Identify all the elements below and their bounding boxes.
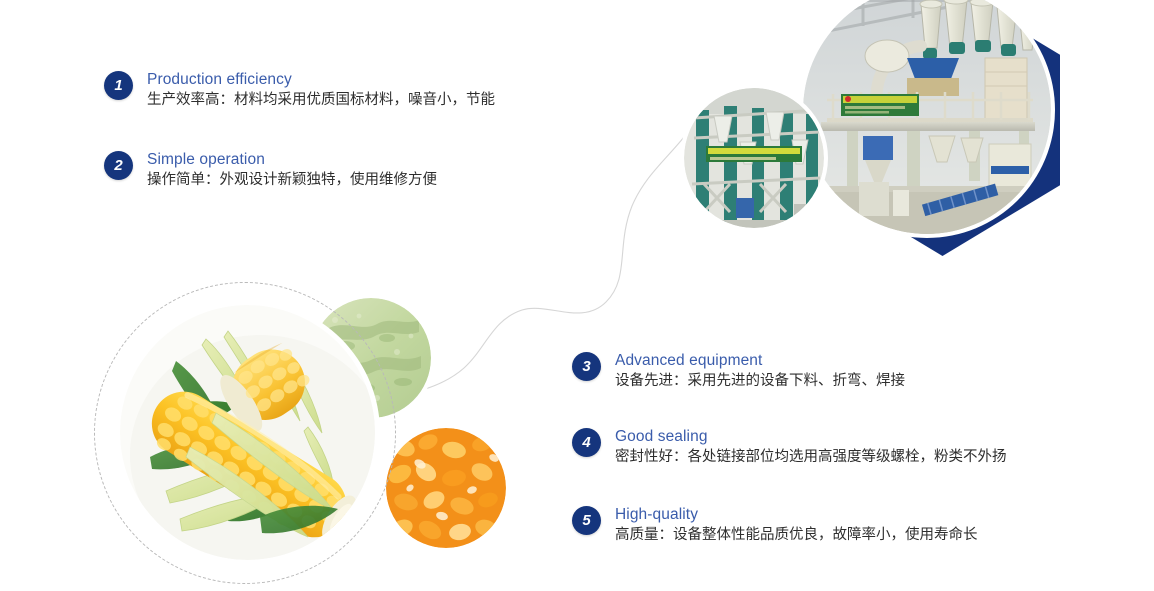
corn-product-visual-group bbox=[86, 280, 516, 591]
feature-text-3: Advanced equipment 设备先进：采用先进的设备下料、折弯、焊接 bbox=[615, 351, 905, 392]
corn-main-photo bbox=[120, 305, 375, 560]
feature-badge-5: 5 bbox=[572, 506, 601, 535]
feature-item-2[interactable]: 2 Simple operation 操作简单：外观设计新颖独特，使用维修方便 bbox=[104, 150, 437, 191]
feature-badge-1: 1 bbox=[104, 71, 133, 100]
feature-infographic: 1 Production efficiency 生产效率高：材料均采用优质国标材… bbox=[0, 0, 1154, 591]
milling-plant-visual-group bbox=[660, 0, 1154, 284]
corn-grits-photo bbox=[386, 428, 506, 548]
feature-title-1: Production efficiency bbox=[147, 70, 495, 89]
feature-desc-2: 操作简单：外观设计新颖独特，使用维修方便 bbox=[147, 169, 437, 191]
feature-desc-5: 高质量：设备整体性能品质优良，故障率小，使用寿命长 bbox=[615, 524, 978, 546]
feature-text-4: Good sealing 密封性好：各处链接部位均选用高强度等级螺栓，粉类不外扬 bbox=[615, 427, 1007, 468]
feature-desc-4: 密封性好：各处链接部位均选用高强度等级螺栓，粉类不外扬 bbox=[615, 446, 1007, 468]
feature-item-4[interactable]: 4 Good sealing 密封性好：各处链接部位均选用高强度等级螺栓，粉类不… bbox=[572, 427, 1007, 468]
feature-badge-3: 3 bbox=[572, 352, 601, 381]
feature-text-1: Production efficiency 生产效率高：材料均采用优质国标材料，… bbox=[147, 70, 495, 111]
feature-title-2: Simple operation bbox=[147, 150, 437, 169]
feature-desc-3: 设备先进：采用先进的设备下料、折弯、焊接 bbox=[615, 370, 905, 392]
feature-title-3: Advanced equipment bbox=[615, 351, 905, 370]
feature-item-5[interactable]: 5 High-quality 高质量：设备整体性能品质优良，故障率小，使用寿命长 bbox=[572, 505, 978, 546]
mill-small-photo bbox=[684, 88, 824, 228]
feature-title-4: Good sealing bbox=[615, 427, 1007, 446]
feature-item-3[interactable]: 3 Advanced equipment 设备先进：采用先进的设备下料、折弯、焊… bbox=[572, 351, 905, 392]
feature-badge-2: 2 bbox=[104, 151, 133, 180]
feature-text-5: High-quality 高质量：设备整体性能品质优良，故障率小，使用寿命长 bbox=[615, 505, 978, 546]
feature-title-5: High-quality bbox=[615, 505, 978, 524]
feature-badge-4: 4 bbox=[572, 428, 601, 457]
feature-item-1[interactable]: 1 Production efficiency 生产效率高：材料均采用优质国标材… bbox=[104, 70, 495, 111]
feature-desc-1: 生产效率高：材料均采用优质国标材料，噪音小，节能 bbox=[147, 89, 495, 111]
feature-text-2: Simple operation 操作简单：外观设计新颖独特，使用维修方便 bbox=[147, 150, 437, 191]
